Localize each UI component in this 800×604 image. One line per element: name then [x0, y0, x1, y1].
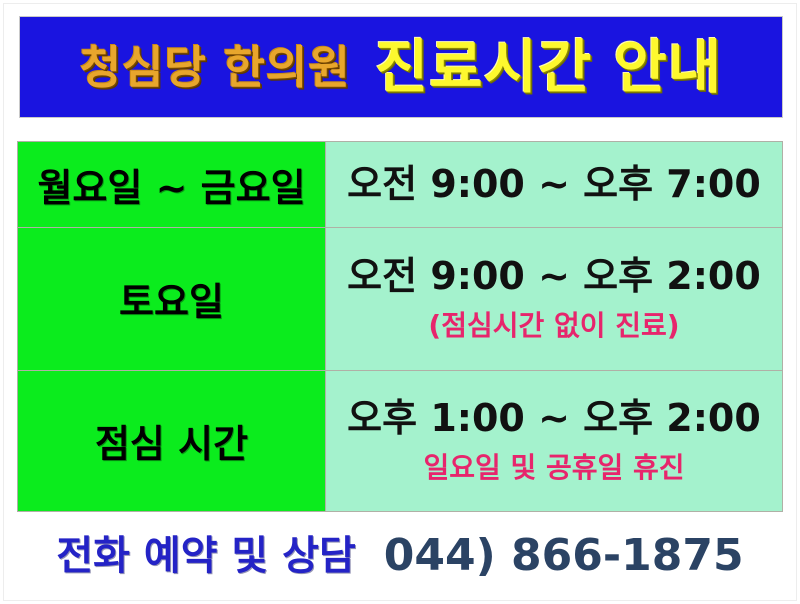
time-cell-saturday: 오전 9:00 ~ 오후 2:00 (점심시간 없이 진료)	[326, 228, 783, 370]
phone-number: 044) 866-1875	[384, 534, 744, 578]
time-cell-weekdays: 오전 9:00 ~ 오후 7:00	[326, 142, 783, 228]
contact-label: 전화 예약 및 상담	[56, 536, 355, 576]
time-note: 일요일 및 공휴일 휴진	[326, 453, 782, 484]
hours-table: 월요일 ~ 금요일 오전 9:00 ~ 오후 7:00 토요일 오전 9:00 …	[17, 141, 783, 512]
table-row: 월요일 ~ 금요일 오전 9:00 ~ 오후 7:00	[18, 142, 783, 228]
footer-contact: 전화 예약 및 상담 044) 866-1875	[0, 521, 800, 591]
time-value: 오전 9:00 ~ 오후 2:00	[326, 256, 782, 297]
time-value: 오전 9:00 ~ 오후 7:00	[326, 164, 782, 205]
table-row: 토요일 오전 9:00 ~ 오후 2:00 (점심시간 없이 진료)	[18, 228, 783, 370]
day-label-weekdays: 월요일 ~ 금요일	[18, 142, 326, 228]
day-label-lunch: 점심 시간	[18, 370, 326, 511]
clinic-name: 청심당 한의원	[80, 45, 351, 90]
clinic-hours-sign: 청심당 한의원 진료시간 안내 월요일 ~ 금요일 오전 9:00 ~ 오후 7…	[0, 0, 800, 604]
page-title: 진료시간 안내	[375, 38, 722, 96]
time-value: 오후 1:00 ~ 오후 2:00	[326, 398, 782, 439]
time-cell-lunch: 오후 1:00 ~ 오후 2:00 일요일 및 공휴일 휴진	[326, 370, 783, 511]
day-label-saturday: 토요일	[18, 228, 326, 370]
time-note: (점심시간 없이 진료)	[326, 311, 782, 342]
table-row: 점심 시간 오후 1:00 ~ 오후 2:00 일요일 및 공휴일 휴진	[18, 370, 783, 511]
header-banner: 청심당 한의원 진료시간 안내	[19, 16, 783, 118]
